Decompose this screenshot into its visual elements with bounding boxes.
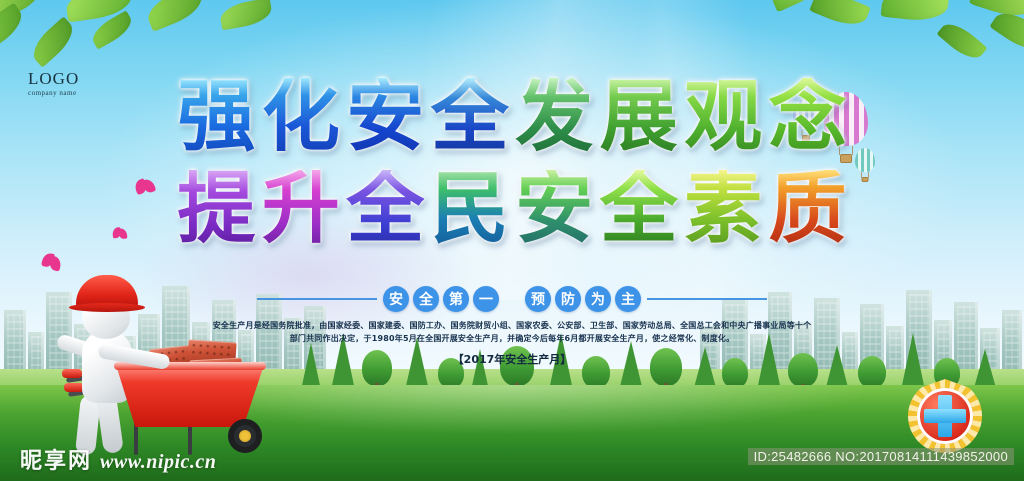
subtitle-group-1: 安 全 第 一 [377,286,505,312]
subtitle-divider-right [647,298,767,300]
headline-char: 安 [346,78,424,156]
subtitle-char: 全 [413,286,439,312]
headline-char: 提 [177,170,255,248]
wheelbarrow-wheel [228,419,262,453]
watermark: 昵享网 www.nipic.cn [20,443,216,475]
subtitle-char: 安 [383,286,409,312]
headline-char: 质 [769,170,847,248]
headline-char: 安 [515,170,593,248]
watermark-url: www.nipic.cn [100,451,216,474]
headline-char: 化 [262,78,340,156]
subtitle-char: 预 [525,286,551,312]
headline-char: 民 [431,170,509,248]
headline-char: 全 [431,78,509,156]
subtitle-char: 为 [585,286,611,312]
headline-line-1: 强 化 安 全 发 展 观 念 [176,78,847,156]
headline-char: 观 [684,78,762,156]
safety-poster: LOGO company name 强 化 安 全 发 展 观 念 提 升 全 … [0,0,1024,481]
headline-char: 升 [262,170,340,248]
safety-emblem [908,379,982,453]
subtitle-divider-left [257,298,377,300]
emblem-cross-icon [924,409,966,423]
watermark-brand: 昵享网 [20,443,92,475]
subtitle-char: 第 [443,286,469,312]
subtitle-char: 主 [615,286,641,312]
subtitle-group-2: 预 防 为 主 [519,286,647,312]
subtitle-char: 防 [555,286,581,312]
headline-line-2: 提 升 全 民 安 全 素 质 [176,170,847,248]
headline-char: 发 [515,78,593,156]
image-id-bar: ID:25482666 NO:20170814111439852000 [748,448,1014,465]
wheelbarrow-grip [62,369,82,378]
headline-char: 强 [177,78,255,156]
headline-char: 念 [769,78,847,156]
headline-char: 全 [346,170,424,248]
wheelbarrow-tray [116,365,264,427]
headline-char: 展 [600,78,678,156]
headline-char: 全 [600,170,678,248]
hard-hat-icon [76,275,138,309]
headline-char: 素 [684,170,762,248]
headline-block: 强 化 安 全 发 展 观 念 提 升 全 民 安 全 素 质 [0,78,1024,248]
wheelbarrow-grip [64,383,84,392]
worker-with-wheelbarrow [38,269,268,459]
subtitle-char: 一 [473,286,499,312]
